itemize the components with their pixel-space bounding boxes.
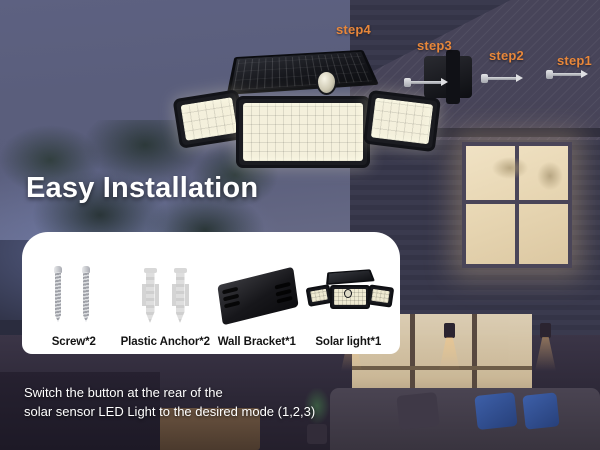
anchor-wing <box>155 284 159 306</box>
part-item-plastic-anchor: Plastic Anchor*2 <box>120 258 212 348</box>
footer-line-1: Switch the button at the rear of the <box>24 383 404 402</box>
step-label-step4: step4 <box>336 22 371 37</box>
screw-head <box>54 266 62 273</box>
part-item-screw: Screw*2 <box>28 258 120 348</box>
anchor-collar <box>174 268 187 273</box>
wall-bracket-icon <box>211 258 303 336</box>
solar-panel <box>227 50 379 95</box>
anchor-wing <box>172 284 176 306</box>
window-reflection <box>466 146 568 207</box>
led-panel-right <box>363 90 441 152</box>
motion-sensor-icon <box>316 70 337 95</box>
footer-instruction: Switch the button at the rear of the sol… <box>24 383 404 421</box>
mini-led-right <box>366 284 394 307</box>
screw-thread <box>83 272 89 322</box>
solar-cell-grid <box>233 53 372 90</box>
mini-led-left <box>305 284 332 307</box>
sofa-cushion-blue <box>474 392 517 430</box>
wall-sconce <box>444 323 455 338</box>
led-panel-left <box>172 89 245 149</box>
led-array <box>371 98 433 145</box>
bracket-body <box>217 267 298 326</box>
part-label: Solar light*1 <box>303 336 395 348</box>
product-installation-graphic: step4 step3 step2 step1 Easy Installatio… <box>0 0 600 450</box>
part-label: Wall Bracket*1 <box>211 336 303 348</box>
page-title: Easy Installation <box>26 172 258 205</box>
screw-arrow-step2 <box>485 74 517 83</box>
screw-head <box>481 74 488 83</box>
arrow-tip-icon <box>441 78 448 86</box>
step-label-step2: step2 <box>489 48 524 63</box>
plastic-anchor-icon <box>120 258 212 336</box>
arrow-tip-icon <box>581 70 588 78</box>
sofa-cushion-blue <box>522 392 559 429</box>
bracket-slot <box>277 296 293 304</box>
screw-icon <box>28 258 120 336</box>
screw-shank <box>550 73 582 76</box>
lit-window <box>462 142 572 268</box>
mini-solar-panel <box>326 269 375 285</box>
led-array <box>181 97 238 141</box>
step-label-step1: step1 <box>557 53 592 68</box>
anchor-body <box>176 273 185 323</box>
bracket-post <box>446 50 460 104</box>
screw-head <box>404 78 411 87</box>
screw-arrow-step1 <box>550 70 582 79</box>
led-panel-center <box>236 96 370 168</box>
anchor-body <box>146 273 155 323</box>
footer-line-2: solar sensor LED Light to the desired mo… <box>24 402 404 421</box>
step-label-step3: step3 <box>417 38 452 53</box>
wall-sconce <box>540 323 551 338</box>
screw-shank <box>408 81 442 84</box>
screw-arrow-step3 <box>408 78 442 87</box>
screw-head <box>546 70 553 79</box>
screw-thread <box>55 272 61 322</box>
included-parts-card: Screw*2 <box>22 232 400 354</box>
anchor-wing <box>142 284 146 306</box>
anchor-wing <box>185 284 189 306</box>
part-item-solar-light: Solar light*1 <box>303 258 395 348</box>
anchor-collar <box>144 268 157 273</box>
part-item-wall-bracket: Wall Bracket*1 <box>211 258 303 348</box>
arrow-tip-icon <box>516 74 523 82</box>
part-label: Plastic Anchor*2 <box>120 336 212 348</box>
solar-light-icon <box>303 258 395 336</box>
led-array <box>243 103 363 161</box>
bracket-slot <box>224 301 240 309</box>
screw-shank <box>485 77 517 80</box>
part-label: Screw*2 <box>28 336 120 348</box>
screw-head <box>82 266 90 273</box>
